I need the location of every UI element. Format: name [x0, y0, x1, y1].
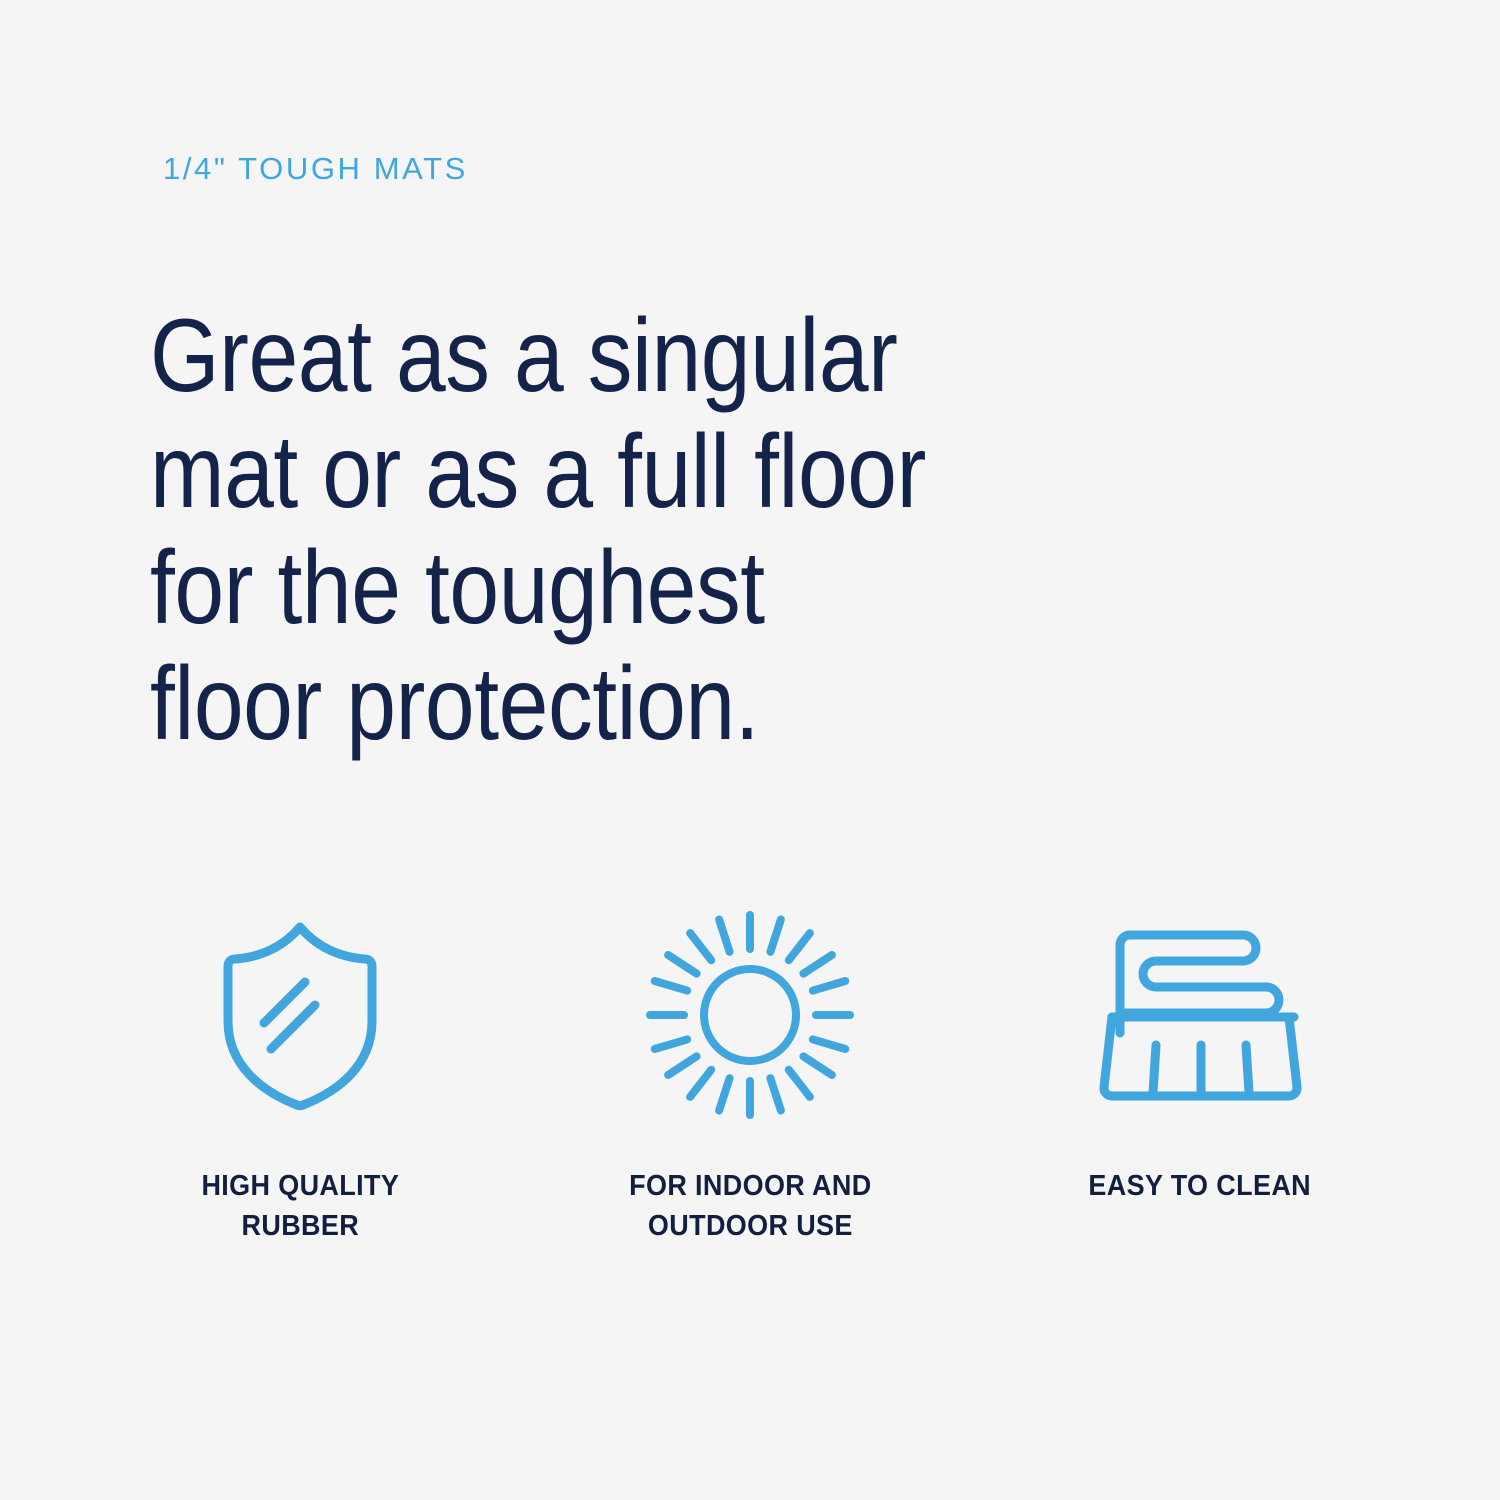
- feature-item-high-quality-rubber: HIGH QUALITY RUBBER: [100, 900, 500, 1246]
- feature-label-line-2: RUBBER: [201, 1206, 399, 1246]
- eyebrow-text: 1/4" TOUGH MATS: [163, 152, 468, 186]
- feature-label-line-1: HIGH QUALITY: [201, 1166, 399, 1206]
- headline-line-2: mat or as a full floor: [150, 414, 1062, 530]
- page-title: Great as a singular mat or as a full flo…: [150, 298, 1062, 762]
- feature-label-indoor-outdoor: FOR INDOOR AND OUTDOOR USE: [629, 1166, 871, 1246]
- headline-line-1: Great as a singular: [150, 298, 1062, 414]
- feature-item-indoor-outdoor: FOR INDOOR AND OUTDOOR USE: [550, 900, 950, 1246]
- feature-label-easy-to-clean: EASY TO CLEAN: [1089, 1166, 1312, 1206]
- shield-icon: [205, 900, 395, 1130]
- sun-icon: [640, 900, 860, 1130]
- headline-line-3: for the toughest: [150, 530, 1062, 646]
- feature-label-high-quality-rubber: HIGH QUALITY RUBBER: [201, 1166, 399, 1246]
- feature-label-line-1: FOR INDOOR AND: [629, 1166, 871, 1206]
- feature-list: HIGH QUALITY RUBBER: [100, 900, 1400, 1246]
- promo-panel: 1/4" TOUGH MATS Great as a singular mat …: [0, 0, 1500, 1500]
- feature-label-line-2: OUTDOOR USE: [629, 1206, 871, 1246]
- scrub-brush-icon: [1098, 900, 1303, 1130]
- headline-line-4: floor protection.: [150, 646, 1062, 762]
- feature-item-easy-to-clean: EASY TO CLEAN: [1000, 900, 1400, 1206]
- feature-label-line-1: EASY TO CLEAN: [1089, 1166, 1312, 1206]
